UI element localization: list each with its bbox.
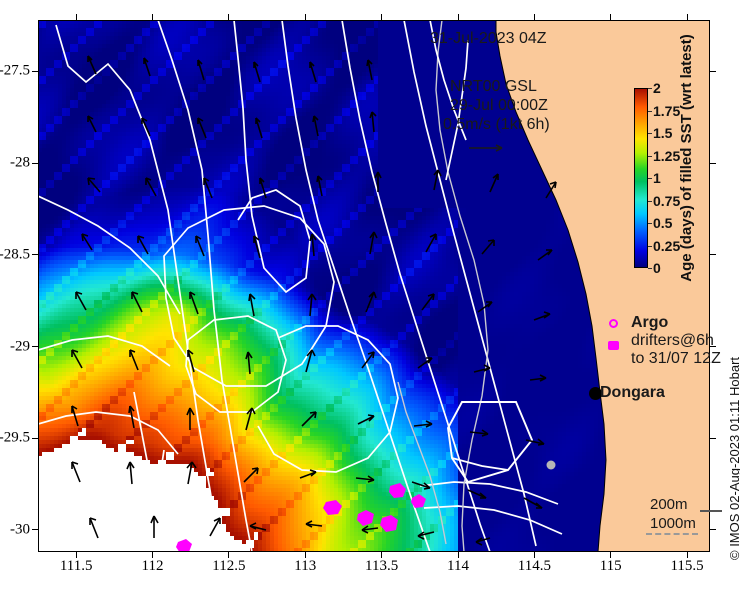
colorbar-tick-mark (648, 133, 652, 134)
x-tick-mark (610, 552, 611, 558)
x-tick-label: 112 (142, 558, 164, 575)
x-tick-mark-top (610, 14, 611, 20)
x-tick-label: 113 (294, 558, 316, 575)
colorbar-tick-label: 0.25 (653, 238, 680, 254)
y-tick-mark-right (710, 529, 716, 530)
x-tick-mark-top (228, 14, 229, 20)
colorbar (634, 88, 648, 268)
colorbar-tick-mark (648, 178, 652, 179)
colorbar-tick-label: 1 (653, 170, 661, 186)
colorbar-tick-label: 0 (653, 260, 661, 276)
argo-legend-title: Argo (631, 314, 668, 332)
y-tick-mark (32, 346, 38, 347)
y-tick-label: -29.5 (0, 430, 30, 447)
x-tick-label: 115 (600, 558, 622, 575)
y-tick-label: -29 (0, 338, 30, 355)
x-tick-mark-top (381, 14, 382, 20)
y-tick-label: -28 (0, 155, 30, 172)
colorbar-tick-label: 0.75 (653, 193, 680, 209)
argo-legend-line2: drifters@6h (631, 332, 714, 350)
copyright-label: © IMOS 02-Aug-2023 01:11 Hobart (727, 357, 740, 560)
map-plot-area[interactable] (38, 20, 710, 552)
y-tick-mark (32, 71, 38, 72)
y-tick-mark-right (710, 71, 716, 72)
colorbar-tick-mark (648, 201, 652, 202)
x-tick-mark-top (687, 14, 688, 20)
bathymetry-1000m-label: 1000m (650, 515, 696, 532)
x-tick-label: 115.5 (670, 558, 703, 575)
colorbar-tick-label: 1.5 (653, 125, 672, 141)
velocity-scale-label: 0.5m/s (1kt 6h) (443, 116, 550, 134)
colorbar-tick-mark (648, 246, 652, 247)
colorbar-tick-mark (648, 223, 652, 224)
colorbar-tick-mark (648, 111, 652, 112)
bathymetry-1000m-line-icon (646, 533, 698, 535)
x-tick-mark-top (152, 14, 153, 20)
x-tick-mark (152, 552, 153, 558)
colorbar-tick-label: 2 (653, 80, 661, 96)
map-overlays (38, 20, 710, 552)
x-tick-mark (381, 552, 382, 558)
x-tick-mark-top (76, 14, 77, 20)
colorbar-tick-label: 1.25 (653, 148, 680, 164)
y-tick-mark (32, 254, 38, 255)
y-tick-mark-right (710, 254, 716, 255)
y-tick-label: -30 (0, 521, 30, 538)
x-tick-label: 112.5 (212, 558, 245, 575)
y-tick-mark (32, 163, 38, 164)
colorbar-title: Age (days) of filled SST (wrt latest) (678, 34, 695, 282)
reference-vector-arrow (468, 142, 510, 154)
y-tick-mark-right (710, 346, 716, 347)
argo-filled-marker-icon (608, 341, 619, 350)
x-tick-label: 114 (447, 558, 469, 575)
product-time-label: 29-Jul 00:00Z (450, 97, 548, 115)
colorbar-tick-label: 1.75 (653, 103, 680, 119)
x-tick-label: 114.5 (518, 558, 551, 575)
x-tick-mark (458, 552, 459, 558)
x-tick-mark (534, 552, 535, 558)
y-tick-mark-right (710, 438, 716, 439)
argo-drifter-tracks (176, 483, 426, 552)
argo-legend-line3: to 31/07 12Z (631, 350, 721, 368)
x-tick-mark (76, 552, 77, 558)
x-tick-mark (687, 552, 688, 558)
x-tick-label: 111.5 (60, 558, 93, 575)
product-name-label: NRT00 GSL (450, 78, 537, 96)
dongara-label: Dongara (600, 384, 665, 402)
y-tick-label: -28.5 (0, 246, 30, 263)
x-tick-mark (228, 552, 229, 558)
x-tick-mark-top (534, 14, 535, 20)
bathymetry-200m-label: 200m (650, 496, 688, 513)
colorbar-tick-mark (648, 268, 652, 269)
argo-open-marker-icon (609, 319, 618, 328)
y-tick-mark (32, 438, 38, 439)
x-tick-mark (305, 552, 306, 558)
colorbar-tick-mark (648, 88, 652, 89)
x-tick-mark-top (458, 14, 459, 20)
figure-root: 31-Jul-2023 04Z NRT00 GSL 29-Jul 00:00Z … (0, 0, 740, 592)
y-tick-mark-right (710, 163, 716, 164)
x-tick-mark-top (305, 14, 306, 20)
colorbar-tick-mark (648, 156, 652, 157)
colorbar-tick-label: 0.5 (653, 215, 672, 231)
scatter-point (547, 461, 556, 470)
x-tick-label: 113.5 (365, 558, 398, 575)
bathymetry-200m-line-icon (700, 510, 722, 512)
date-label: 31-Jul-2023 04Z (430, 30, 547, 48)
y-tick-mark (32, 529, 38, 530)
y-tick-label: -27.5 (0, 63, 30, 80)
